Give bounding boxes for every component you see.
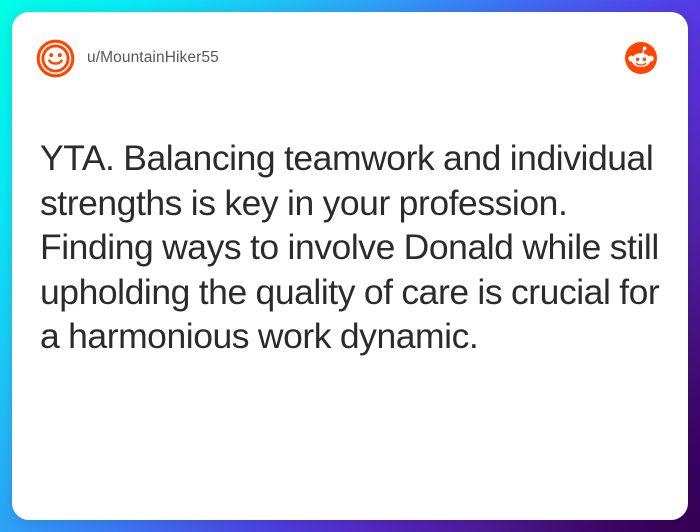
- reddit-post-card: u/MountainHiker55 YTA. Balancing t: [12, 12, 688, 520]
- screenshot-root: u/MountainHiker55 YTA. Balancing t: [0, 0, 700, 532]
- post-body: YTA. Balancing teamwork and individual s…: [12, 136, 688, 359]
- author-username: u/MountainHiker55: [87, 49, 219, 67]
- smiley-face-avatar-icon: [36, 39, 75, 78]
- post-author[interactable]: u/MountainHiker55: [36, 39, 624, 78]
- post-header: u/MountainHiker55: [12, 12, 688, 104]
- post-text: YTA. Balancing teamwork and individual s…: [40, 136, 660, 359]
- reddit-logo-icon[interactable]: [624, 41, 658, 75]
